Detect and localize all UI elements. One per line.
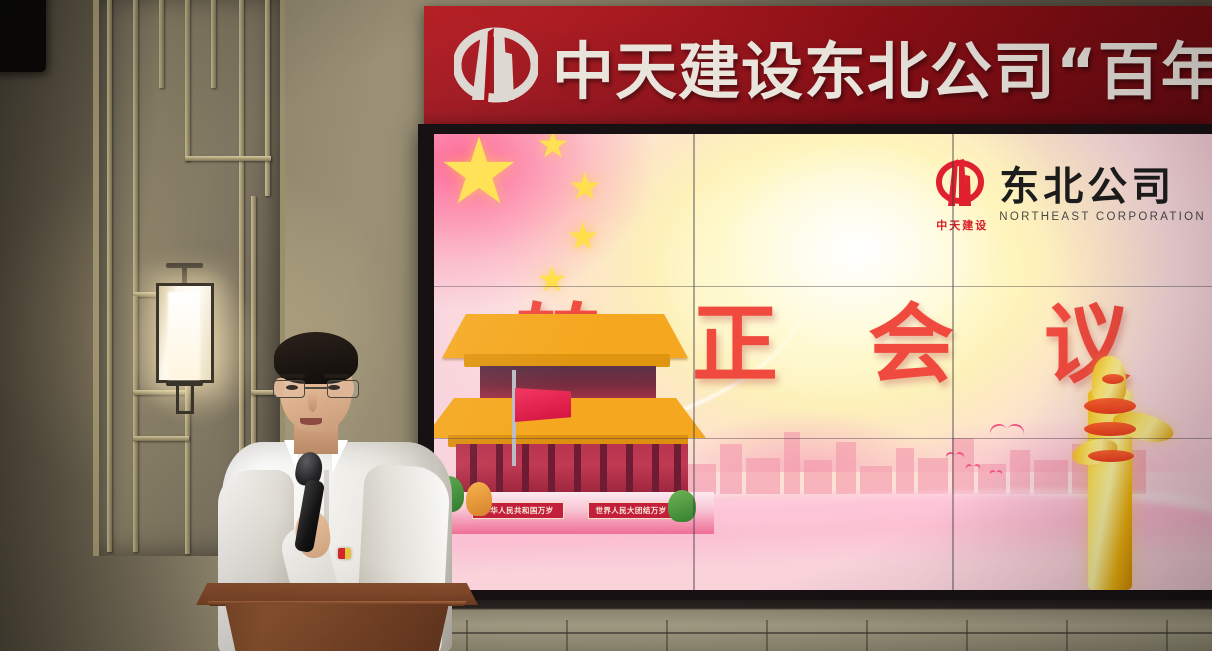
panel-seam-horizontal [434, 286, 1212, 288]
corner-panel-object [0, 0, 46, 72]
zhongtian-construction-logo [454, 24, 538, 106]
panel-seam-vertical [952, 134, 954, 590]
photo-scene: 中天建设东北公司“百年党建 红色记忆”党日活动 [0, 0, 1212, 651]
banner-title: 中天建设东北公司“百年党建 红色记忆”党日活动 [552, 20, 1212, 112]
mouth [300, 418, 322, 425]
wall-lamp-shade [156, 283, 214, 383]
company-name-en: NORTHEAST CORPORATION [999, 211, 1206, 223]
eyebrow-right [324, 374, 349, 378]
event-banner: 中天建设东北公司“百年党建 红色记忆”党日活动 [424, 6, 1212, 124]
panel-seam-horizontal [434, 438, 1212, 440]
wall-lamp-bracket [176, 384, 194, 414]
tiananmen-gate-graphic: 中华人民共和国万岁 世界人民大团结万岁 [436, 314, 736, 524]
company-logo-block: 中天建设 东北公司 NORTHEAST CORPORATION [936, 156, 1206, 233]
video-wall-content: 中天建设 东北公司 NORTHEAST CORPORATION 转 正 会 议 [434, 134, 1212, 590]
company-logo-mark-group: 中天建设 [936, 156, 988, 233]
company-name-cn: 东北公司 [999, 167, 1206, 207]
bird-icon [990, 424, 1024, 438]
golden-sculpture-graphic [1048, 340, 1168, 590]
wooden-podium [196, 583, 478, 651]
nose [308, 392, 317, 412]
podium-front-panel [210, 604, 464, 651]
panel-seam-vertical [693, 134, 695, 590]
eyebrow-left [280, 374, 305, 378]
company-brand-cn: 中天建设 [936, 217, 988, 233]
lower-wall-panel [418, 600, 1212, 651]
tree-decor [668, 490, 696, 522]
tree-decor [466, 482, 492, 516]
led-video-wall: 中天建设 东北公司 NORTHEAST CORPORATION 转 正 会 议 [418, 124, 1212, 608]
flagpole [512, 370, 516, 466]
company-name-group: 东北公司 NORTHEAST CORPORATION [999, 167, 1206, 223]
zhongtian-mark-icon [936, 156, 984, 214]
gate-plaque-right: 世界人民大团结万岁 [588, 502, 674, 519]
party-emblem-lapel-pin [338, 548, 351, 559]
